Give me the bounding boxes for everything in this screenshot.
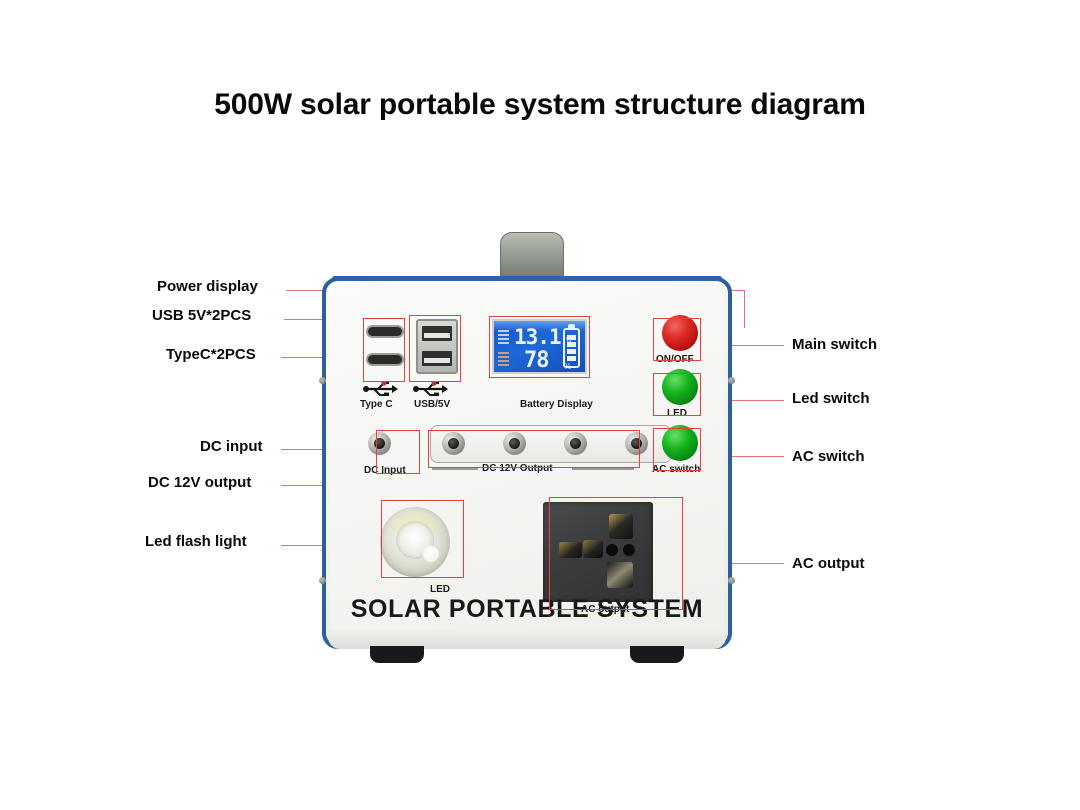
case-screw: [319, 577, 326, 584]
caption-type-c: Type C: [360, 399, 393, 410]
annotation-label-dc-12v-output: DC 12V output: [148, 474, 251, 491]
case-screw: [319, 377, 326, 384]
annotation-label-ac-switch: AC switch: [792, 448, 865, 465]
usb-icon: [362, 381, 408, 396]
highlight-box-ac-output: [549, 497, 683, 610]
case-screw: [728, 577, 735, 584]
highlight-box-led: [381, 500, 464, 578]
caption-usb-5v: USB/5V: [414, 399, 450, 410]
highlight-box-usb: [409, 315, 461, 382]
highlight-box-dc-12v-output: [428, 430, 640, 468]
highlight-box-main-switch: [653, 318, 701, 361]
caption-led: LED: [430, 584, 450, 595]
annotation-label-led-flash-light: Led flash light: [145, 533, 247, 550]
annotation-label-usb-5v: USB 5V*2PCS: [152, 307, 251, 324]
caption-rule: [572, 468, 634, 470]
annotation-label-ac-output: AC output: [792, 555, 864, 572]
annotation-label-power-display: Power display: [157, 278, 258, 295]
highlight-box-battery-display: [489, 316, 590, 378]
highlight-box-ac-switch: [653, 428, 701, 471]
rubber-foot: [370, 646, 424, 663]
annotation-label-dc-input: DC input: [200, 438, 262, 455]
highlight-box-dc-input: [376, 430, 420, 474]
case-top-edge: [332, 276, 722, 281]
highlight-box-type-c: [363, 318, 405, 382]
case-screw: [728, 377, 735, 384]
highlight-box-led-switch: [653, 373, 701, 416]
leader-line-power-display-drop: [744, 290, 745, 328]
usb-icon: [412, 381, 458, 396]
rubber-foot: [630, 646, 684, 663]
annotation-label-main-switch: Main switch: [792, 336, 877, 353]
caption-rule: [432, 468, 478, 470]
page-title: 500W solar portable system structure dia…: [0, 88, 1080, 122]
annotation-label-typec: TypeC*2PCS: [166, 346, 256, 363]
caption-battery-display: Battery Display: [520, 399, 593, 410]
annotation-label-led-switch: Led switch: [792, 390, 870, 407]
